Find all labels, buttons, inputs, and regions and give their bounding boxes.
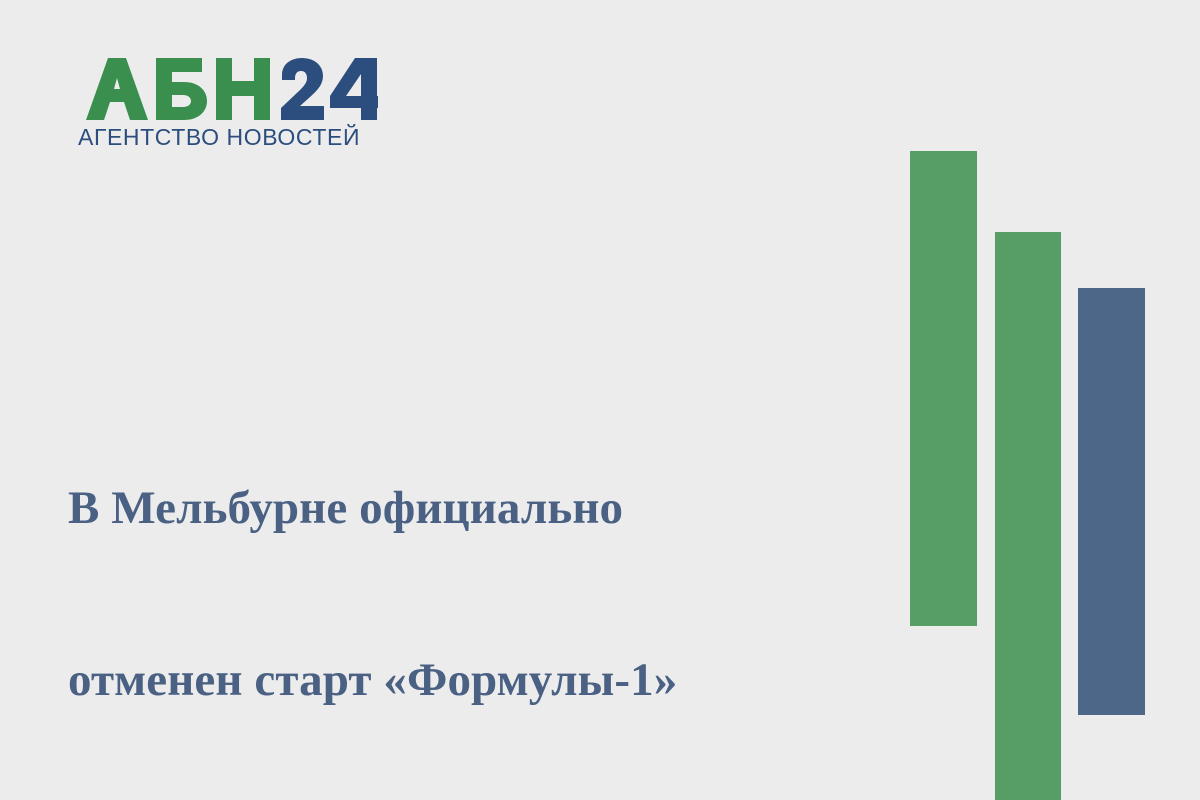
logo-tagline-text: АГЕНТСТВО НОВОСТЕЙ xyxy=(78,124,360,150)
decor-bar-mid-green xyxy=(995,232,1061,800)
logo-tagline-icon: АГЕНТСТВО НОВОСТЕЙ xyxy=(78,124,378,150)
logo-wordmark-icon xyxy=(78,58,378,120)
headline-line-1: В Мельбурне официально xyxy=(68,465,858,551)
decor-bar-tall-green xyxy=(910,151,977,626)
headline-line-2: отменен старт «Формулы-1» xyxy=(68,637,858,723)
logo[interactable]: АГЕНТСТВО НОВОСТЕЙ xyxy=(78,58,378,150)
news-card: АГЕНТСТВО НОВОСТЕЙ В Мельбурне официальн… xyxy=(0,0,1200,800)
decor-bar-short-slate xyxy=(1078,288,1145,715)
headline: В Мельбурне официально отменен старт «Фо… xyxy=(68,379,858,800)
